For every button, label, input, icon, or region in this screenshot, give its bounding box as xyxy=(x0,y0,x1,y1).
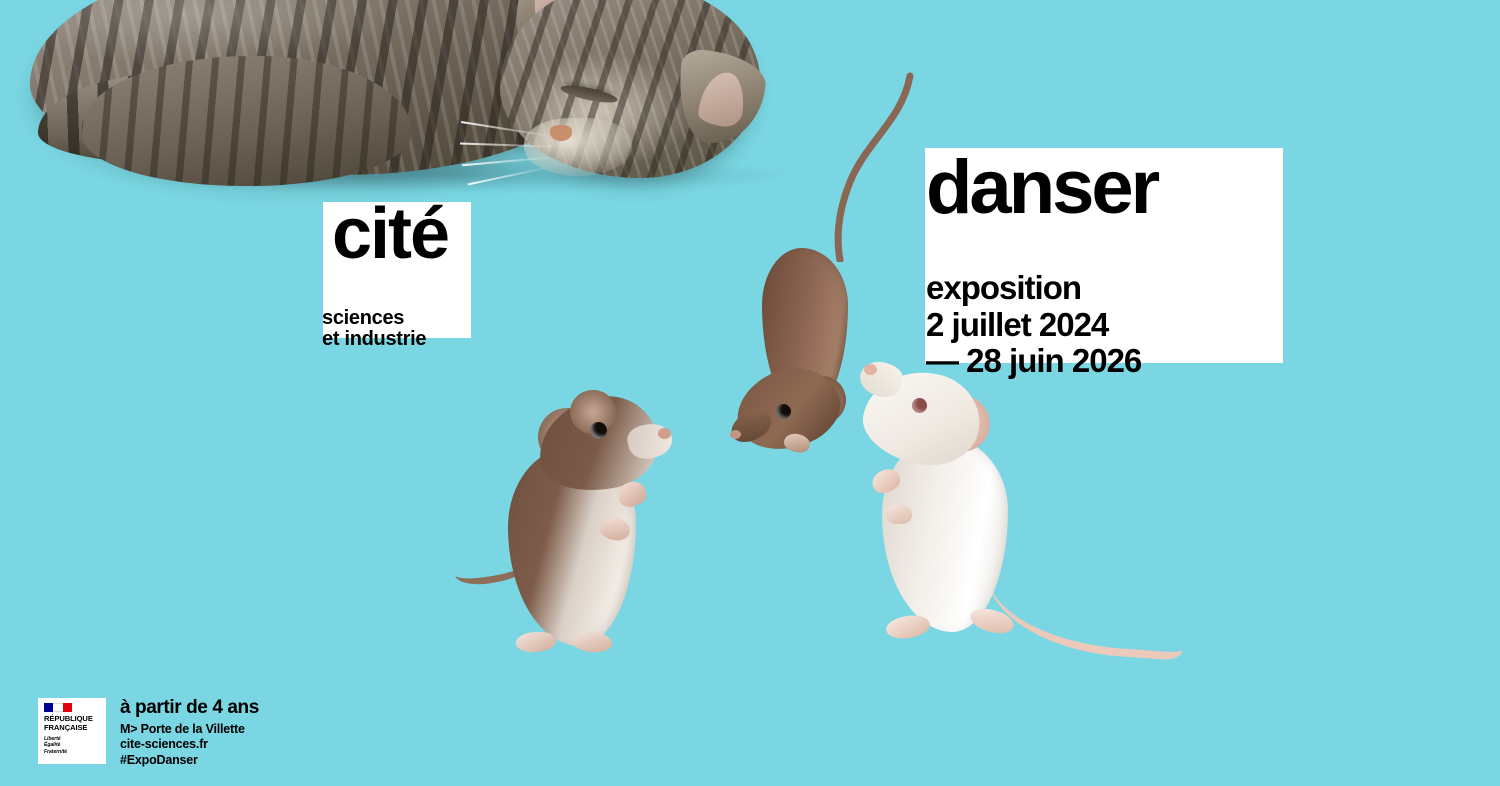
cat-illustration xyxy=(30,0,830,220)
mouse-hanging-tail xyxy=(806,72,926,262)
republique-motto: Liberté Égalité Fraternité xyxy=(44,736,100,756)
cite-logo-subtitle: sciences et industrie xyxy=(322,308,426,350)
cite-logo-subtitle-line2: et industrie xyxy=(322,329,426,350)
french-flag-icon xyxy=(44,703,72,712)
cat-haunch xyxy=(82,56,412,186)
motto-egalite: Égalité xyxy=(44,742,100,749)
mouse-eye xyxy=(590,422,607,439)
visitor-info: à partir de 4 ans M> Porte de la Villett… xyxy=(120,698,259,768)
mouse-body xyxy=(882,436,1008,632)
metro-info: M> Porte de la Villette xyxy=(120,722,259,737)
cat-nose xyxy=(550,125,572,141)
website-link[interactable]: cite-sciences.fr xyxy=(120,737,259,752)
mouse-nose xyxy=(658,428,671,439)
exhibition-title: danser xyxy=(926,150,1157,226)
mouse-eye xyxy=(912,398,927,413)
poster-canvas: cité sciences et industrie danser exposi… xyxy=(0,0,1500,786)
mouse-white-right xyxy=(846,358,1176,668)
mouse-foot xyxy=(884,612,931,641)
hashtag[interactable]: #ExpoDanser xyxy=(120,753,259,768)
footer: RÉPUBLIQUE FRANÇAISE Liberté Égalité Fra… xyxy=(0,688,1500,786)
cite-logo-subtitle-line1: sciences xyxy=(322,308,426,329)
exhibition-date-end: — 28 juin 2026 xyxy=(926,343,1141,380)
motto-fraternite: Fraternité xyxy=(44,749,100,756)
mouse-nose xyxy=(730,430,741,439)
republique-francaise-logo: RÉPUBLIQUE FRANÇAISE Liberté Égalité Fra… xyxy=(38,698,106,764)
mouse-tail xyxy=(982,539,1189,661)
mouse-paw xyxy=(886,504,912,524)
exhibition-date-start: 2 juillet 2024 xyxy=(926,307,1141,344)
mouse-brown-left xyxy=(460,370,690,670)
exhibition-details: exposition 2 juillet 2024 — 28 juin 2026 xyxy=(926,270,1141,380)
republique-line2: FRANÇAISE xyxy=(44,724,100,733)
mouse-foot xyxy=(515,630,557,654)
mouse-nose xyxy=(864,364,877,375)
exhibition-kind: exposition xyxy=(926,270,1141,307)
republique-name: RÉPUBLIQUE FRANÇAISE xyxy=(44,715,100,733)
cite-logo-word: cité xyxy=(332,198,448,270)
age-info: à partir de 4 ans xyxy=(120,698,259,717)
mouse-foot xyxy=(571,631,612,654)
mouse-eye xyxy=(776,404,791,419)
